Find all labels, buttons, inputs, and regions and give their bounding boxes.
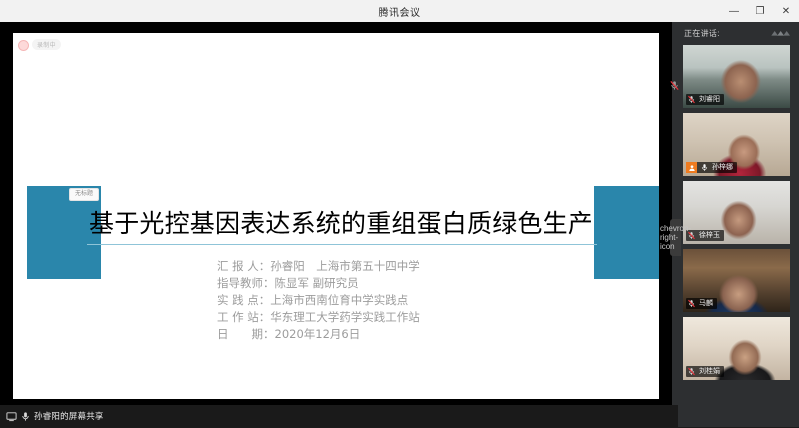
- participant-tile[interactable]: 徐梓玉: [683, 181, 790, 244]
- participant-name: 孙梓娜: [712, 162, 733, 173]
- participant-name: 徐梓玉: [699, 230, 720, 241]
- title-bar: 腾讯会议 — ❐ ✕: [0, 0, 799, 23]
- recording-status-chip: 录制中: [32, 39, 61, 50]
- participant-name: 马麟: [699, 298, 713, 309]
- divider-mic-muted-icon: [667, 78, 681, 92]
- participant-tile[interactable]: 孙梓娜: [683, 113, 790, 176]
- mic-active-icon: [699, 162, 710, 173]
- window-controls: — ❐ ✕: [721, 0, 799, 22]
- minimize-button[interactable]: —: [721, 0, 747, 22]
- panel-collapse-chevrons-icon[interactable]: [769, 26, 791, 40]
- recording-indicator-icon: [18, 40, 29, 51]
- participant-tile[interactable]: 刘睿阳: [683, 45, 790, 108]
- participant-name: 刘桂娟: [699, 366, 720, 377]
- participant-name-bar: 徐梓玉: [686, 230, 724, 241]
- share-status-bar: 孙睿阳的屏幕共享: [0, 405, 678, 427]
- participant-tile[interactable]: 马麟: [683, 249, 790, 312]
- participant-name-bar: 孙梓娜: [686, 162, 737, 173]
- participant-name-bar: 马麟: [686, 298, 717, 309]
- microphone-icon: [20, 411, 31, 422]
- slide-title-tooltip: 无标题: [69, 188, 99, 201]
- close-button[interactable]: ✕: [773, 0, 799, 22]
- slide-body-text: 汇 报 人：孙睿阳 上海市第五十四中学 指导教师：陈显军 副研究员 实 践 点：…: [217, 258, 420, 343]
- participant-tile[interactable]: 刘桂娟: [683, 317, 790, 380]
- mic-muted-icon: [686, 366, 697, 377]
- speaking-label: 正在讲话:: [684, 28, 720, 39]
- screen-share-icon: [6, 411, 17, 422]
- mic-muted-icon: [686, 298, 697, 309]
- panel-collapse-handle[interactable]: chevron-right-icon: [670, 219, 681, 256]
- speaking-avatar-icon: [686, 162, 697, 173]
- participant-name-bar: 刘桂娟: [686, 366, 724, 377]
- slide-title: 基于光控基因表达系统的重组蛋白质绿色生产: [89, 205, 609, 243]
- maximize-button[interactable]: ❐: [747, 0, 773, 22]
- shared-screen-stage: 录制中 无标题 基于光控基因表达系统的重组蛋白质绿色生产 汇 报 人：孙睿阳 上…: [0, 22, 672, 405]
- tencent-meeting-window: 腾讯会议 — ❐ ✕ 录制中 无标题 基于光控基因表达系统的重组蛋白质绿色生产 …: [0, 0, 799, 427]
- share-status-label: 孙睿阳的屏幕共享: [34, 410, 104, 422]
- mic-muted-icon: [686, 94, 697, 105]
- slide-title-rule: [87, 244, 597, 245]
- participant-name: 刘睿阳: [699, 94, 720, 105]
- participant-name-bar: 刘睿阳: [686, 94, 724, 105]
- shared-screen-content: 录制中 无标题 基于光控基因表达系统的重组蛋白质绿色生产 汇 报 人：孙睿阳 上…: [13, 33, 659, 399]
- panel-header: 正在讲话:: [672, 22, 799, 44]
- window-title: 腾讯会议: [379, 4, 421, 19]
